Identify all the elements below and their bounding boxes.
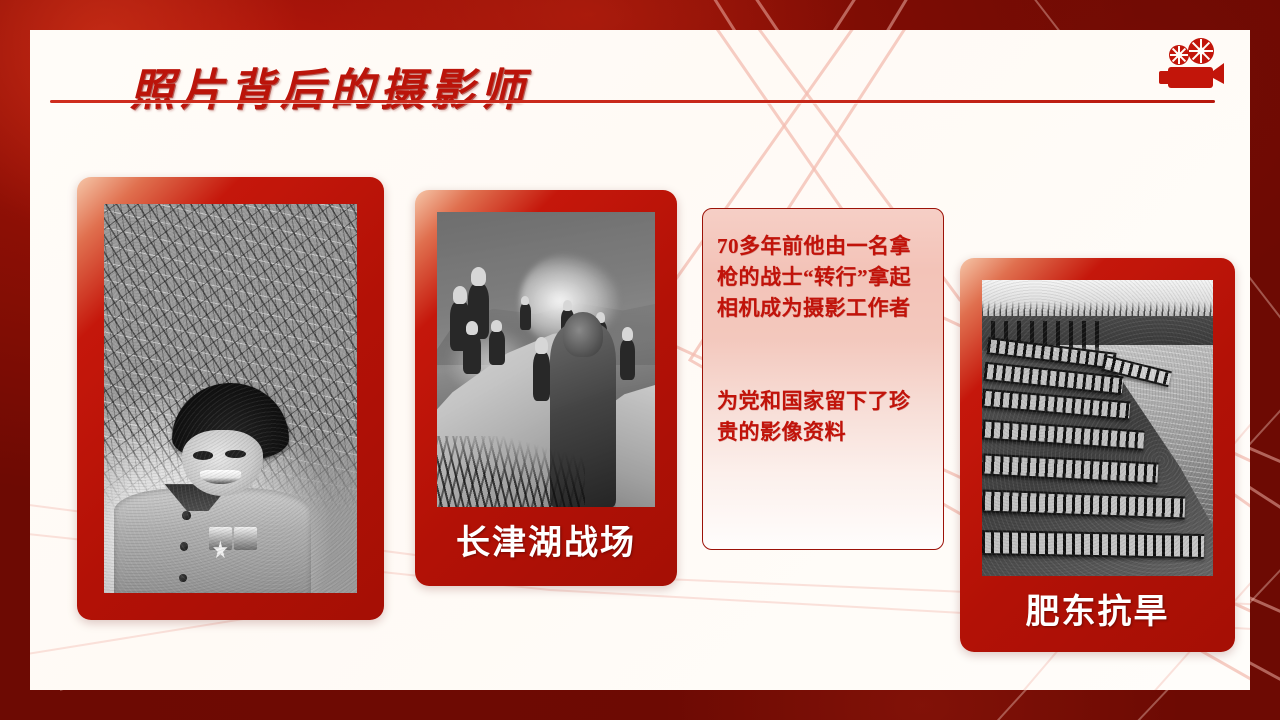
description-paragraph-1: 70多年前他由一名拿枪的战士“转行”拿起相机成为摄影工作者 xyxy=(717,231,929,324)
content-panel: 照片背后的摄影师 xyxy=(30,30,1250,690)
portrait-photo xyxy=(104,204,357,593)
title-divider xyxy=(50,100,1215,103)
page-title: 照片背后的摄影师 xyxy=(130,54,530,118)
slide-root: 照片背后的摄影师 xyxy=(0,0,1280,720)
photo-card-drought[interactable]: 肥东抗旱 xyxy=(960,258,1235,652)
battle-caption: 长津湖战场 xyxy=(415,515,677,564)
drought-photo xyxy=(982,280,1213,576)
film-camera-icon xyxy=(1154,38,1226,94)
description-text-box: 70多年前他由一名拿枪的战士“转行”拿起相机成为摄影工作者 为党和国家留下了珍贵… xyxy=(702,208,944,550)
description-paragraph-2: 为党和国家留下了珍贵的影像资料 xyxy=(717,386,929,448)
photo-card-battle[interactable]: 长津湖战场 xyxy=(415,190,677,586)
photo-card-portrait[interactable] xyxy=(77,177,384,620)
battle-photo xyxy=(437,212,655,507)
drought-caption: 肥东抗旱 xyxy=(960,584,1235,633)
